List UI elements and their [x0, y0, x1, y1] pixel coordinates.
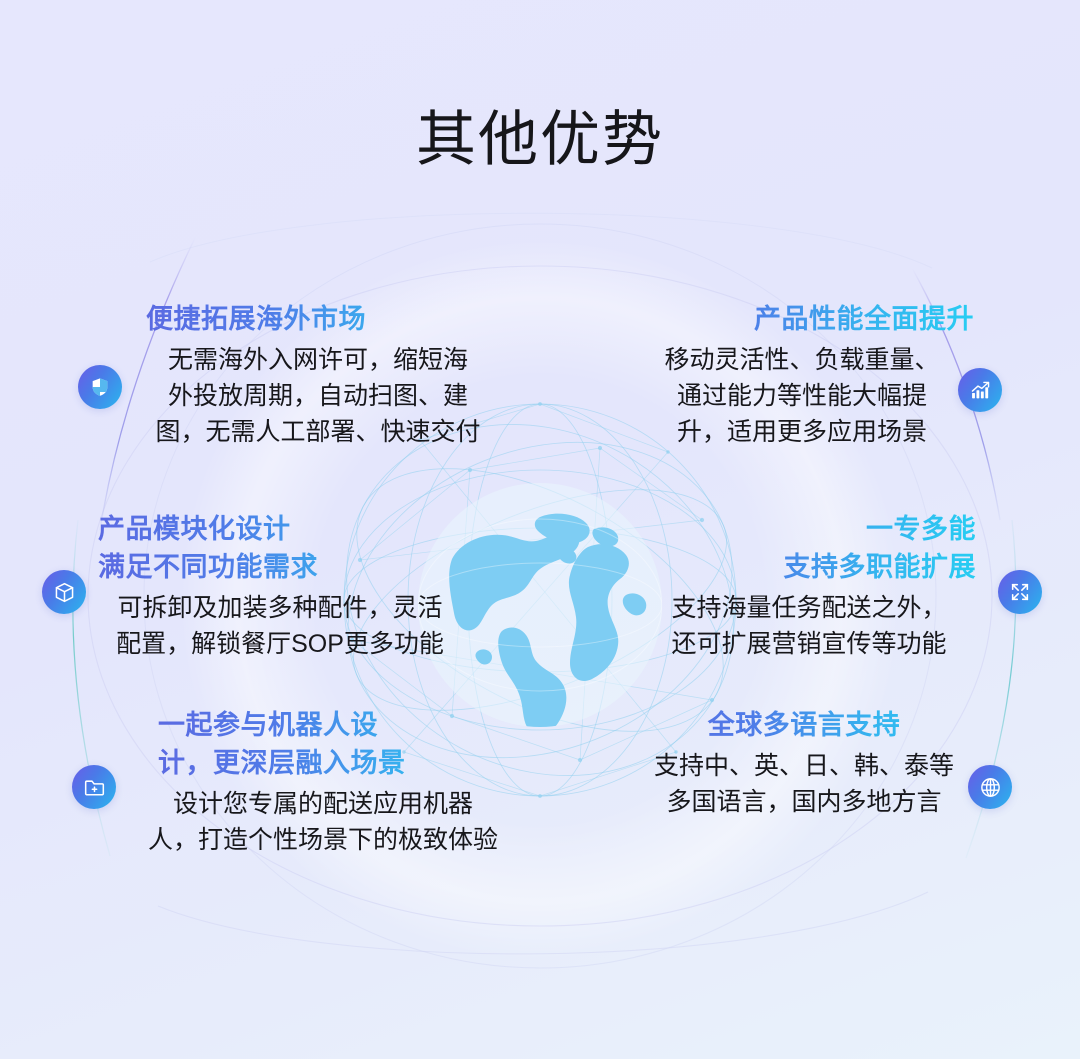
cube-icon[interactable] [42, 570, 86, 614]
feature-block-co-design-robot: 一起参与机器人设 计，更深层融入场景 设计您专属的配送应用机器 人，打造个性场景… [128, 706, 518, 858]
feature-block-overseas-market: 便捷拓展海外市场 无需海外入网许可，缩短海 外投放周期，自动扫图、建 图，无需人… [138, 300, 498, 450]
feature-body: 可拆卸及加装多种配件，灵活 配置，解锁餐厅SOP更多功能 [90, 590, 470, 662]
folder-plus-icon[interactable] [72, 765, 116, 809]
feature-body: 支持海量任务配送之外， 还可扩展营销宣传等功能 [636, 590, 982, 662]
feature-body: 设计您专属的配送应用机器 人，打造个性场景下的极致体验 [128, 786, 518, 858]
feature-heading: 产品模块化设计 满足不同功能需求 [98, 510, 470, 586]
feature-block-multi-function: 一专多能 支持多职能扩展 支持海量任务配送之外， 还可扩展营销宣传等功能 [636, 510, 982, 662]
expand-arrows-icon[interactable] [998, 570, 1042, 614]
page-title: 其他优势 [0, 104, 1080, 176]
feature-block-modular-design: 产品模块化设计 满足不同功能需求 可拆卸及加装多种配件，灵活 配置，解锁餐厅SO… [90, 510, 470, 662]
feature-body: 无需海外入网许可，缩短海 外投放周期，自动扫图、建 图，无需人工部署、快速交付 [138, 342, 498, 450]
feature-heading: 产品性能全面提升 [622, 300, 974, 338]
feature-body: 支持中、英、日、韩、泰等 多国语言，国内多地方言 [630, 748, 978, 820]
shield-icon[interactable] [78, 365, 122, 409]
globe-icon[interactable] [968, 765, 1012, 809]
growth-chart-icon[interactable] [958, 368, 1002, 412]
feature-heading: 便捷拓展海外市场 [146, 300, 498, 338]
feature-block-product-performance: 产品性能全面提升 移动灵活性、负载重量、 通过能力等性能大幅提 升，适用更多应用… [622, 300, 982, 450]
feature-heading: 全球多语言支持 [630, 706, 978, 744]
feature-block-multi-language: 全球多语言支持 支持中、英、日、韩、泰等 多国语言，国内多地方言 [630, 706, 978, 820]
feature-heading: 一专多能 支持多职能扩展 [636, 510, 976, 586]
poster-stage: 其他优势 便捷拓展海外市场 无需海外入网许可，缩短海 外投放周期，自动扫图、建 … [0, 0, 1080, 1059]
feature-heading: 一起参与机器人设 计，更深层融入场景 [158, 706, 518, 782]
feature-body: 移动灵活性、负载重量、 通过能力等性能大幅提 升，适用更多应用场景 [622, 342, 982, 450]
